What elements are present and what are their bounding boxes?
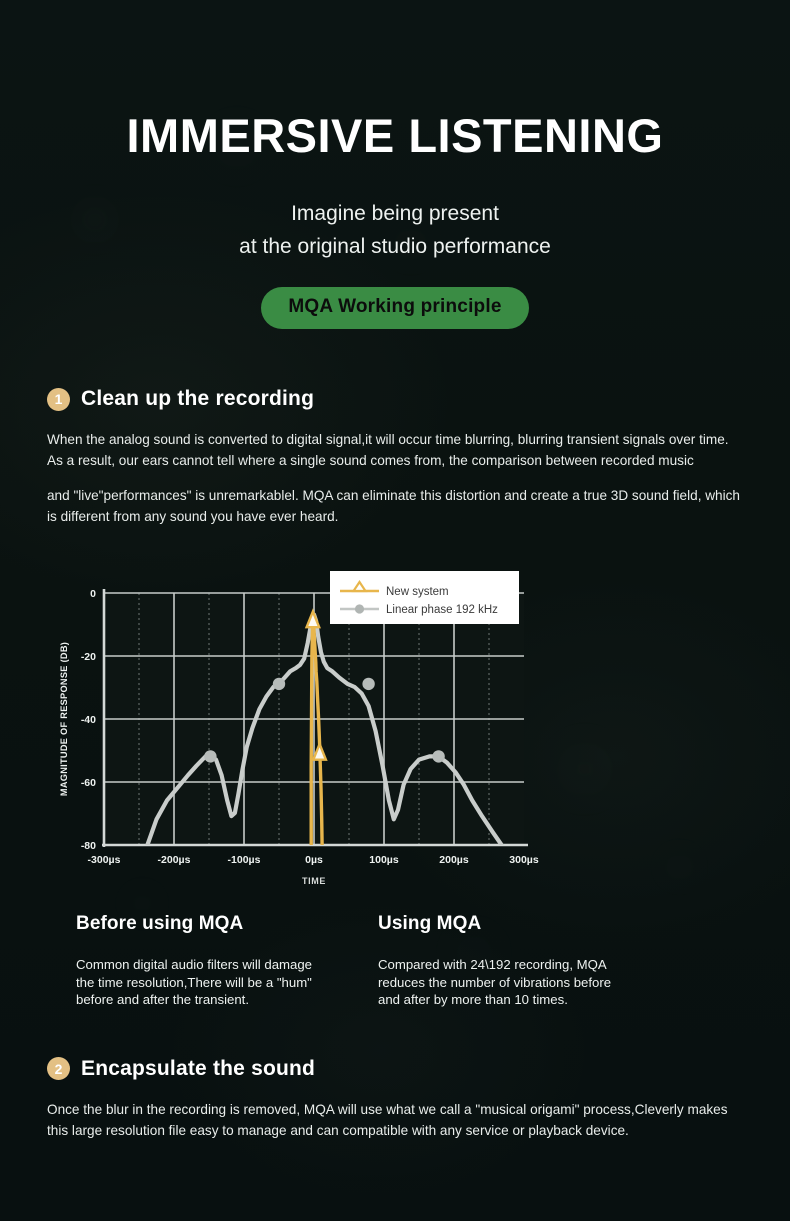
comparison-row: Before using MQA Common digital audio fi… <box>0 913 790 1009</box>
step-1-paragraph-1: When the analog sound is converted to di… <box>0 429 790 471</box>
step-number-badge-2: 2 <box>47 1057 70 1080</box>
comparison-column-before: Before using MQA Common digital audio fi… <box>76 913 324 1009</box>
svg-text:300µs: 300µs <box>509 854 539 866</box>
legend-label-linear-phase: Linear phase 192 kHz <box>386 604 498 616</box>
impulse-response-chart: 0 -20 -40 -60 -80 -300µs -200µs -100µs 0… <box>47 555 547 905</box>
svg-text:-20: -20 <box>81 651 96 663</box>
hero-subtitle-line-2: at the original studio performance <box>0 230 790 263</box>
y-tick-labels: 0 -20 -40 -60 -80 <box>81 588 96 852</box>
svg-text:-100µs: -100µs <box>228 854 261 866</box>
svg-text:-200µs: -200µs <box>158 854 191 866</box>
comparison-column-using: Using MQA Compared with 24\192 recording… <box>378 913 626 1009</box>
legend-label-new-system: New system <box>386 586 449 598</box>
svg-text:100µs: 100µs <box>369 854 399 866</box>
chart-legend: New system Linear phase 192 kHz <box>330 571 519 624</box>
chart-svg: 0 -20 -40 -60 -80 -300µs -200µs -100µs 0… <box>47 555 547 905</box>
mqa-info-page: IMMERSIVE LISTENING Imagine being presen… <box>0 0 790 1221</box>
svg-text:-60: -60 <box>81 777 96 789</box>
step-1-paragraph-2: and "live"performances" is unremarkablel… <box>0 485 790 527</box>
svg-text:0µs: 0µs <box>305 854 323 866</box>
mqa-working-principle-badge[interactable]: MQA Working principle <box>261 287 528 329</box>
step-number-badge-1: 1 <box>47 388 70 411</box>
hero-subtitle-line-1: Imagine being present <box>0 197 790 230</box>
before-using-mqa-title: Before using MQA <box>76 913 324 935</box>
svg-text:-80: -80 <box>81 840 96 852</box>
svg-text:-300µs: -300µs <box>88 854 121 866</box>
x-tick-labels: -300µs -200µs -100µs 0µs 100µs 200µs 300… <box>88 854 539 866</box>
using-mqa-text: Compared with 24\192 recording, MQA redu… <box>378 956 626 1009</box>
y-axis-title: MAGNITUDE OF RESPONSE (DB) <box>59 642 69 796</box>
svg-text:200µs: 200µs <box>439 854 469 866</box>
svg-text:0: 0 <box>90 588 96 600</box>
step-2-paragraph-1: Once the blur in the recording is remove… <box>0 1099 790 1141</box>
step-2-header: 2 Encapsulate the sound <box>0 1057 790 1081</box>
step-2-title: Encapsulate the sound <box>81 1057 315 1081</box>
step-1-header: 1 Clean up the recording <box>0 387 790 411</box>
page-title: IMMERSIVE LISTENING <box>0 112 790 159</box>
svg-text:-40: -40 <box>81 714 96 726</box>
step-1-title: Clean up the recording <box>81 387 314 411</box>
before-using-mqa-text: Common digital audio filters will damage… <box>76 956 324 1009</box>
x-axis-title: TIME <box>302 876 326 886</box>
using-mqa-title: Using MQA <box>378 913 626 935</box>
hero-section: IMMERSIVE LISTENING Imagine being presen… <box>0 0 790 329</box>
